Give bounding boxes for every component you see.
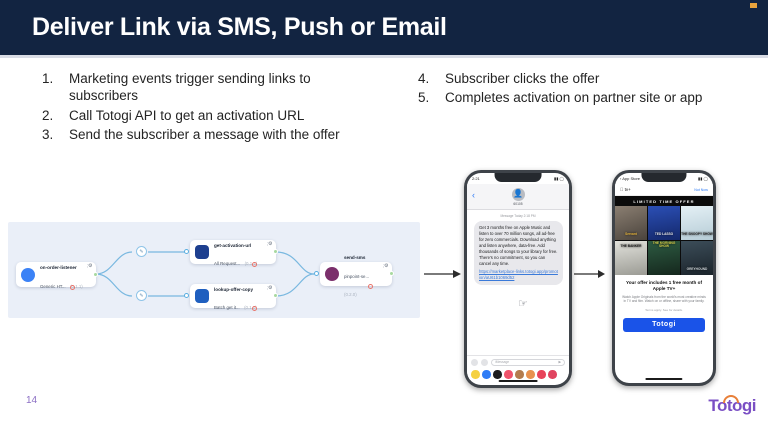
poster-title: Servant xyxy=(625,233,637,240)
node-output-port[interactable] xyxy=(389,271,394,276)
poster-morning-show[interactable]: THE MORNING SHOW xyxy=(648,241,680,275)
list-item-label: Completes activation on partner site or … xyxy=(445,89,738,106)
status-icons: ▮▮ ◯ xyxy=(554,176,564,181)
page-number: 14 xyxy=(26,395,37,406)
offer-body: Watch Apple Originals from the world's m… xyxy=(621,295,707,304)
appletv-brand:  tv+ xyxy=(620,187,631,192)
node-subtitle: pinpoint-se... xyxy=(344,274,369,279)
camera-icon[interactable] xyxy=(471,359,478,366)
poster-snoopy-show[interactable]: THE SNOOPY SHOW xyxy=(681,206,713,240)
status-icons: ▮▮ ◯ xyxy=(698,176,708,181)
poster-greyhound[interactable]: GREYHOUND xyxy=(681,241,713,275)
gear-icon[interactable]: ⚙ xyxy=(268,286,273,291)
gear-icon[interactable]: ⚙ xyxy=(384,264,389,269)
phone-messages-mockup: 2:21 ▮▮ ◯ ‹ 👤 60105 Message Today 2:18 P… xyxy=(464,170,572,388)
steps-list-right: 4. Subscriber clicks the offer 5. Comple… xyxy=(418,70,738,109)
list-item: 4. Subscriber clicks the offer xyxy=(418,70,738,87)
node-version: (0.2.0) xyxy=(344,292,357,297)
home-indicator xyxy=(499,380,538,382)
database-icon xyxy=(195,289,209,303)
message-compose-bar[interactable]: iMessage ▶ xyxy=(467,355,569,368)
node-error-port[interactable] xyxy=(252,262,257,267)
offer-terms[interactable]: Terms apply. See for details. xyxy=(621,308,707,312)
node-input-port[interactable] xyxy=(184,293,189,298)
offer-details: Your offer includes 1 free month of Appl… xyxy=(615,275,713,315)
message-bubble[interactable]: Get 3 months free on Apple Music and lis… xyxy=(474,221,563,285)
list-item-number: 5. xyxy=(418,89,445,106)
node-input-port[interactable] xyxy=(314,271,319,276)
message-input[interactable]: iMessage ▶ xyxy=(491,359,565,366)
list-item: 5. Completes activation on partner site … xyxy=(418,89,738,106)
totogi-logo: Totogi xyxy=(708,396,756,416)
music-app-icon[interactable] xyxy=(493,370,502,379)
list-item: 2. Call Totogi API to get an activation … xyxy=(42,107,372,124)
messages-header: ‹ 👤 60105 xyxy=(467,184,569,210)
health-app-icon[interactable] xyxy=(504,370,513,379)
pencil-icon[interactable]: ✎ xyxy=(136,290,147,301)
poster-title: THE SNOOPY SHOW xyxy=(681,233,713,240)
memoji-app-icon[interactable] xyxy=(515,370,524,379)
flow-arrow-to-phone-messages xyxy=(424,268,462,280)
poster-grid: Servant TED LASSO THE SNOOPY SHOW THE BA… xyxy=(615,206,713,275)
app-store-icon[interactable] xyxy=(481,359,488,366)
node-title: send-sms xyxy=(344,255,365,260)
list-item-label: Subscriber clicks the offer xyxy=(445,70,738,87)
slide-header: Deliver Link via SMS, Push or Email xyxy=(0,0,768,55)
poster-the-banker[interactable]: THE BANKER xyxy=(615,241,647,275)
list-item-label: Send the subscriber a message with the o… xyxy=(69,126,372,143)
message-placeholder: iMessage xyxy=(495,360,509,364)
page-title: Deliver Link via SMS, Push or Email xyxy=(32,13,447,42)
node-subtitle: Generic HT... xyxy=(40,284,66,289)
status-left-label: ‹ App Store xyxy=(620,176,640,181)
poster-title: THE BANKER xyxy=(621,245,642,275)
list-item-number: 2. xyxy=(42,107,69,124)
node-title: get-activation-url xyxy=(214,243,251,248)
node-title: on-order-listener xyxy=(40,265,77,270)
header-divider xyxy=(0,55,768,58)
list-item: 1. Marketing events trigger sending link… xyxy=(42,70,372,105)
photos-app-icon[interactable] xyxy=(471,370,480,379)
node-title: lookup-offer-copy xyxy=(214,287,253,292)
list-item: 3. Send the subscriber a message with th… xyxy=(42,126,372,143)
avatar[interactable]: 👤 xyxy=(512,188,525,201)
list-item-number: 1. xyxy=(42,70,69,105)
node-output-port[interactable] xyxy=(93,272,98,277)
poster-title: THE MORNING SHOW xyxy=(648,242,680,275)
node-subtitle: Batch get it... xyxy=(214,305,240,310)
send-icon[interactable]: ▶ xyxy=(558,360,561,364)
list-item-number: 4. xyxy=(418,70,445,87)
node-error-port[interactable] xyxy=(252,306,257,311)
message-timestamp: Message Today 2:18 PM xyxy=(467,214,569,218)
poster-servant[interactable]: Servant xyxy=(615,206,647,240)
offer-link[interactable]: https://marketplace-links.totogi.app/pro… xyxy=(479,269,558,281)
phone-appletv-mockup: ‹ App Store ▮▮ ◯  tv+ Not Now LIMITED T… xyxy=(612,170,716,386)
gear-icon[interactable]: ⚙ xyxy=(268,242,273,247)
maps-app-icon[interactable] xyxy=(526,370,535,379)
list-item-number: 3. xyxy=(42,126,69,143)
poster-title: GREYHOUND xyxy=(687,268,708,275)
appstore-app-icon[interactable] xyxy=(482,370,491,379)
node-output-port[interactable] xyxy=(273,249,278,254)
sms-icon xyxy=(325,267,339,281)
appletv-topbar:  tv+ Not Now xyxy=(615,184,713,196)
phone-notch xyxy=(641,173,686,182)
steps-list-left: 1. Marketing events trigger sending link… xyxy=(42,70,372,145)
poster-ted-lasso[interactable]: TED LASSO xyxy=(648,206,680,240)
offer-title: Your offer includes 1 free month of Appl… xyxy=(621,280,707,292)
cloud-icon xyxy=(21,268,35,282)
workflow-canvas[interactable]: on-order-listener Generic HT... (0.1.1) … xyxy=(8,222,420,318)
back-icon[interactable]: ‹ xyxy=(472,191,475,200)
home-indicator xyxy=(645,378,682,380)
corner-accent-dot xyxy=(750,3,757,8)
phone-notch xyxy=(495,173,542,182)
not-now-button[interactable]: Not Now xyxy=(694,188,708,192)
limited-time-offer-banner: LIMITED TIME OFFER xyxy=(615,196,713,206)
poster-title: TED LASSO xyxy=(655,233,673,240)
status-time: 2:21 xyxy=(472,176,480,181)
api-icon xyxy=(195,245,209,259)
pencil-icon[interactable]: ✎ xyxy=(136,246,147,257)
message-body: Get 3 months free on Apple Music and lis… xyxy=(479,225,557,266)
imessage-app-dock[interactable] xyxy=(467,369,569,380)
node-input-port[interactable] xyxy=(184,249,189,254)
video-app-icon[interactable] xyxy=(537,370,546,379)
hand-cursor-icon: ☞ xyxy=(518,297,528,310)
gear-icon[interactable]: ⚙ xyxy=(88,264,93,269)
list-item-label: Marketing events trigger sending links t… xyxy=(69,70,372,105)
flow-arrow-to-phone-tv xyxy=(574,268,606,280)
node-error-port[interactable] xyxy=(368,284,373,289)
contact-name: 60105 xyxy=(513,202,522,206)
node-output-port[interactable] xyxy=(273,293,278,298)
totogi-cta-button[interactable]: Totogi xyxy=(623,318,705,332)
workflow-node-lookup-offer-copy[interactable]: lookup-offer-copy Batch get it... (0.1.0… xyxy=(190,284,276,308)
workflow-node-get-activation-url[interactable]: get-activation-url All Request... (0.1.1… xyxy=(190,240,276,264)
node-error-port[interactable] xyxy=(70,285,75,290)
workflow-node-on-order-listener[interactable]: on-order-listener Generic HT... (0.1.1) … xyxy=(16,262,96,287)
list-item-label: Call Totogi API to get an activation URL xyxy=(69,107,372,124)
workflow-node-send-sms[interactable]: send-sms pinpoint-se... (0.2.0) ⋮ ⚙ xyxy=(320,262,392,286)
games-app-icon[interactable] xyxy=(548,370,557,379)
node-subtitle: All Request... xyxy=(214,261,240,266)
